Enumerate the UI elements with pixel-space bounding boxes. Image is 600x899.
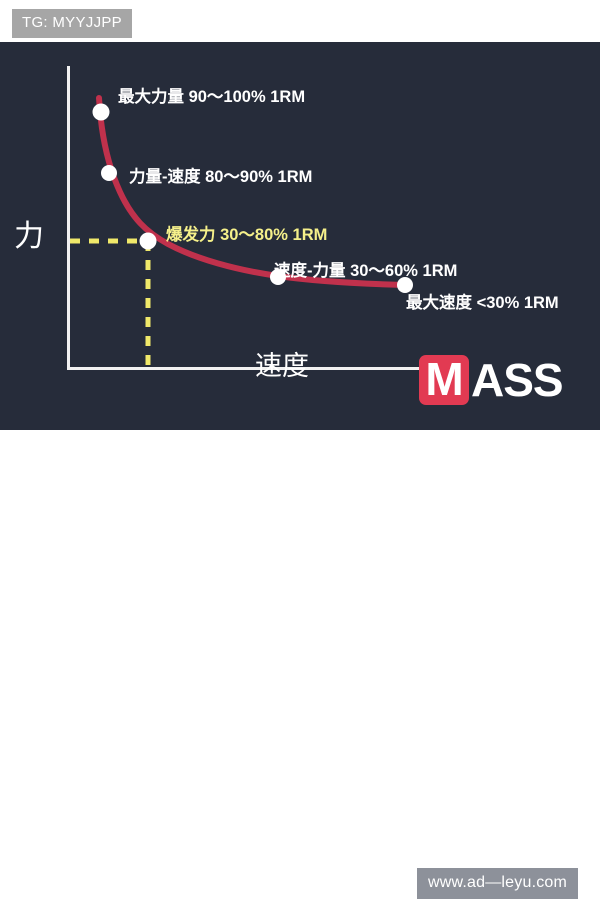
telegram-tag: TG: MYYJJPP [12, 9, 132, 38]
data-point-2 [101, 165, 117, 181]
site-watermark: www.ad—leyu.com [417, 868, 578, 899]
data-point-3 [140, 233, 157, 250]
curve-path [99, 98, 405, 285]
logo-wordmark: ASS [471, 357, 563, 403]
mass-logo: M ASS [419, 355, 563, 405]
data-point-1 [93, 104, 110, 121]
logo-mark-square: M [419, 355, 469, 405]
data-label-5: 最大速度 <30% 1RM [406, 293, 559, 313]
top-banner: TG: MYYJJPP [0, 0, 600, 42]
logo-mark-letter: M [425, 356, 462, 402]
screenshot-root: TG: MYYJJPP 力 速度 最大力量 90～100% 1RM 力量-速度 … [0, 0, 600, 480]
data-label-2: 力量-速度 80～90% 1RM [129, 167, 312, 187]
data-label-1: 最大力量 90～100% 1RM [118, 87, 305, 107]
bottom-banner: www.ad—leyu.com [0, 430, 600, 480]
chart-panel: 力 速度 最大力量 90～100% 1RM 力量-速度 80～90% 1RM 爆… [0, 42, 600, 430]
data-label-4: 速度-力量 30～60% 1RM [274, 261, 457, 281]
data-label-3: 爆发力 30～80% 1RM [166, 225, 327, 245]
